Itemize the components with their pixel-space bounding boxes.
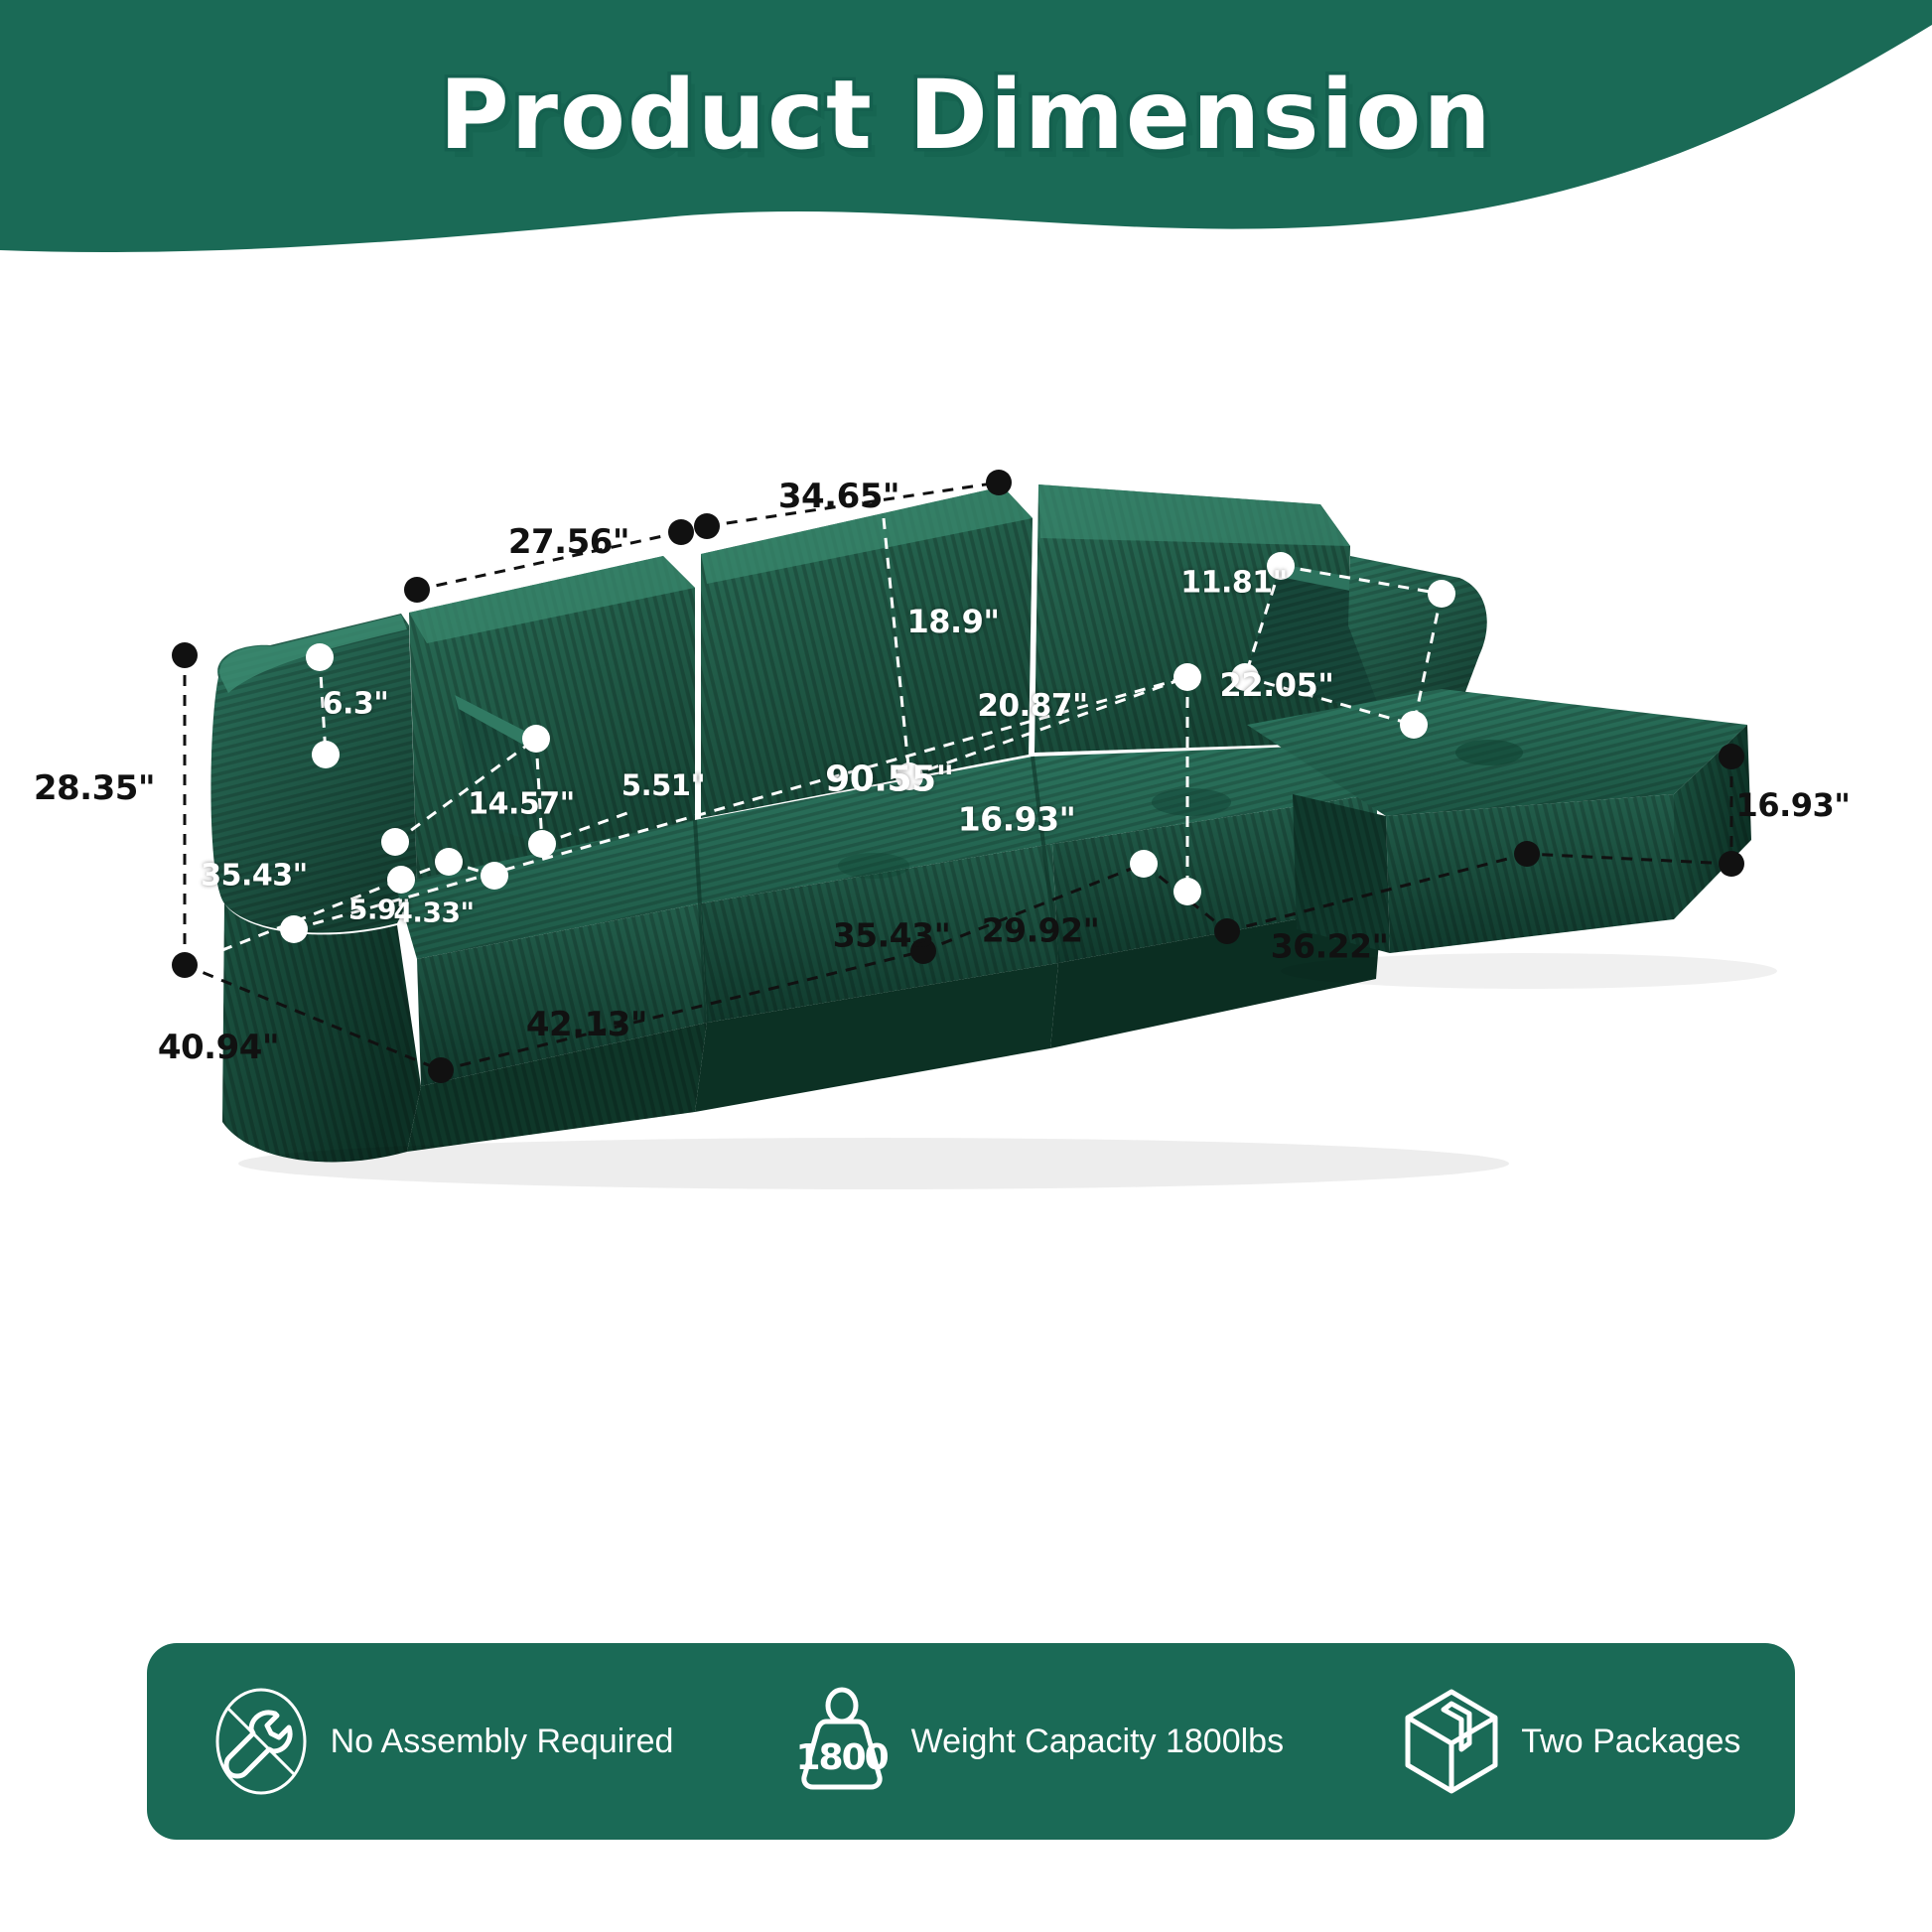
dim-label-base-front-left: 35.43" <box>833 916 951 955</box>
dim-label-chaise-seat-height: 16.93" <box>1736 786 1851 824</box>
dim-label-chaise-length: 36.22" <box>1271 927 1389 966</box>
no-assembly-icon <box>202 1682 321 1801</box>
dim-label-base-rear-depth: 40.94" <box>158 1028 279 1067</box>
dimension-endpoint-dot <box>172 470 1744 1083</box>
dim-label-armrest-top-thickness: 6.3" <box>323 687 389 722</box>
feature-label-no-assembly: No Assembly Required <box>331 1723 674 1761</box>
dim-label-foot-gap-right: 4.33" <box>393 897 474 929</box>
dim-label-chaise-return-depth: 29.92" <box>982 911 1100 950</box>
feature-label-weight-capacity: Weight Capacity 1800lbs <box>911 1723 1284 1761</box>
page-title: Product Dimension <box>0 60 1932 171</box>
feature-no-assembly: No Assembly Required <box>202 1643 674 1840</box>
dim-label-overall-depth: 42.13" <box>526 1005 647 1044</box>
feature-weight-capacity: 1800 Weight Capacity 1800lbs <box>782 1643 1284 1840</box>
dim-label-seat-depth: 20.87" <box>977 688 1087 724</box>
feature-highlights-bar: No Assembly Required 1800 Weight Capacit… <box>147 1643 1795 1840</box>
dim-label-side-depth: 35.43" <box>201 859 308 894</box>
dim-label-overall-height: 28.35" <box>34 768 155 808</box>
package-box-icon <box>1392 1682 1511 1801</box>
dim-label-side-pillow-width: 22.05" <box>1220 666 1334 704</box>
dim-label-lumbar-pillow-thickness: 5.51" <box>621 768 705 802</box>
weight-capacity-icon: 1800 <box>782 1682 901 1801</box>
feature-two-packages: Two Packages <box>1392 1643 1740 1840</box>
dim-label-seat-height-center: 16.93" <box>958 800 1076 839</box>
dim-label-armrest-depth: 14.57" <box>468 787 575 822</box>
weight-capacity-value: 1800 <box>782 1737 901 1778</box>
dimension-callout-lines <box>0 328 1932 1469</box>
page-header: Product Dimension <box>0 0 1932 258</box>
dim-label-side-pillow-height: 11.81" <box>1180 566 1288 601</box>
dim-label-back-left-cushion-width: 27.56" <box>508 522 629 562</box>
feature-label-two-packages: Two Packages <box>1521 1723 1740 1761</box>
dim-label-backrest-height: 18.9" <box>906 603 999 640</box>
dim-label-overall-length: 90.55" <box>825 759 954 800</box>
dim-label-back-right-cushion-width: 34.65" <box>778 477 899 516</box>
product-illustration: 27.56" 34.65" 6.3" 18.9" 11.81" 22.05" 2… <box>0 328 1932 1469</box>
